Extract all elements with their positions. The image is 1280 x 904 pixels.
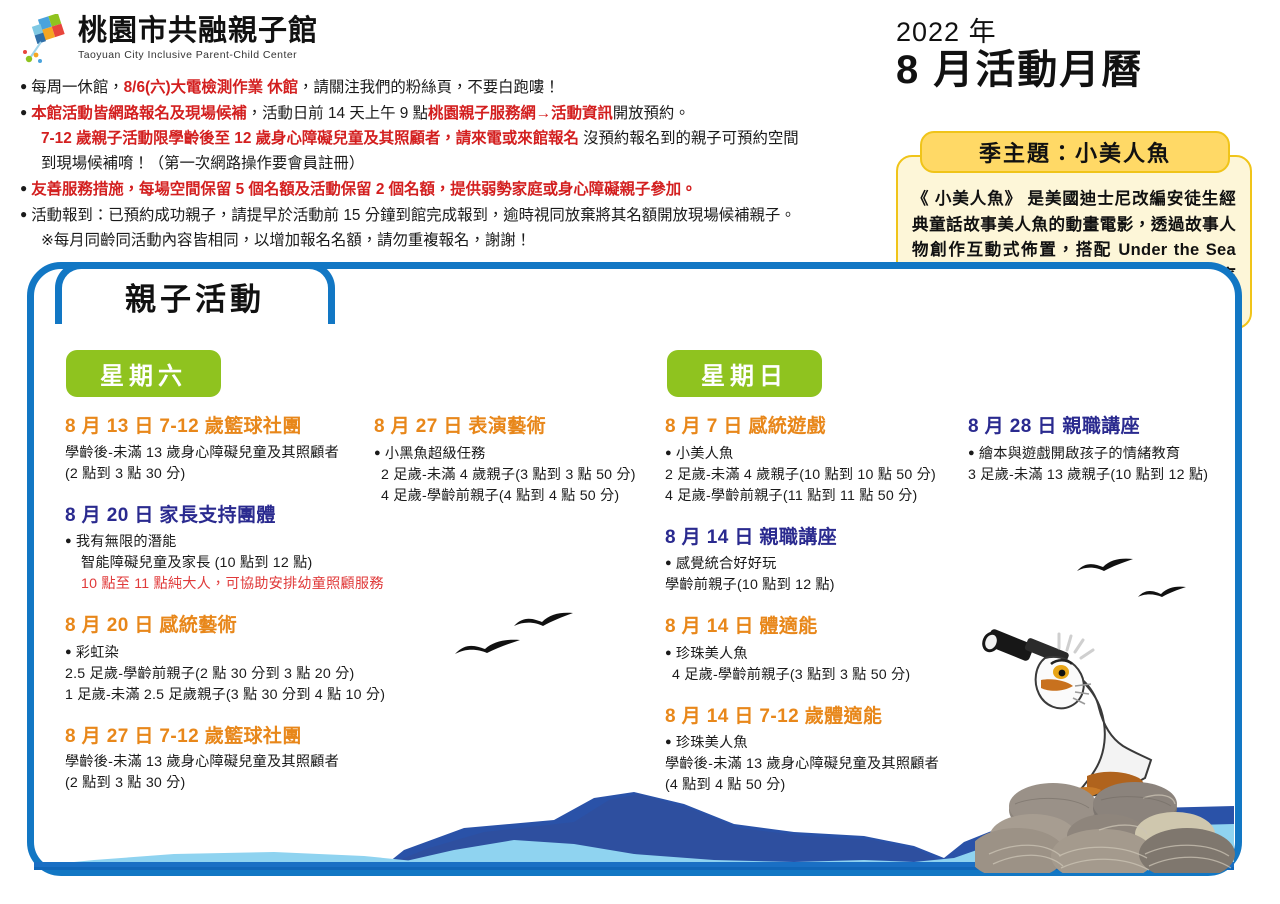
calendar-title: 8 月活動月曆 <box>896 46 1226 94</box>
notice-text: ，請關注我們的粉絲頁，不要白跑嘍！ <box>298 79 560 96</box>
activity-detail-text: 10 點至 11 點純大人，可協助安排幼童照顧服務 <box>81 576 384 592</box>
bullet-icon: ● <box>65 535 72 547</box>
kite-logo-icon <box>22 14 70 66</box>
calendar-heading: 2022 年 8 月活動月曆 <box>896 18 1226 94</box>
flying-bird-icon <box>512 610 576 635</box>
brand-name-zh: 桃園市共融親子館 <box>78 16 318 46</box>
bullet-icon: ● <box>374 447 381 459</box>
activity-detail-text: (4 點到 4 點 50 分) <box>665 777 785 793</box>
activity-detail-text: 彩虹染 <box>76 645 119 661</box>
activity-entry: 8 月 14 日 親職講座●感覺統合好好玩學齡前親子(10 點到 12 點) <box>665 524 965 597</box>
activity-detail-line: 2 足歲-未滿 4 歲親子(10 點到 10 點 50 分) <box>665 465 965 486</box>
activity-detail-line: ●繪本與遊戲開啟孩子的情緒教育 <box>968 443 1258 465</box>
activity-detail-line: 學齡後-未滿 13 歲身心障礙兒童及其照顧者 <box>65 443 365 464</box>
activity-title: 8 月 13 日 7-12 歲籃球社團 <box>65 413 365 441</box>
activity-detail-text: 學齡後-未滿 13 歲身心障礙兒童及其照顧者 <box>65 754 339 770</box>
bullet-icon: ● <box>665 736 672 748</box>
activity-detail-text: 學齡後-未滿 13 歲身心障礙兒童及其照顧者 <box>65 445 339 461</box>
activity-detail-text: 小美人魚 <box>676 446 734 462</box>
activity-title: 8 月 20 日 感統藝術 <box>65 612 365 640</box>
activity-detail-line: 10 點至 11 點純大人，可協助安排幼童照顧服務 <box>65 574 365 595</box>
bullet-icon: ● <box>20 181 27 195</box>
activity-title: 8 月 27 日 表演藝術 <box>374 413 664 441</box>
notice-text: 桃園親子服務網→活動資訊 <box>428 105 613 122</box>
activity-detail-line: 4 足歲-學齡前親子(3 點到 3 點 50 分) <box>665 665 965 686</box>
activity-column-saturday-2: 8 月 27 日 表演藝術●小黑魚超級任務2 足歲-未滿 4 歲親子(3 點到 … <box>374 413 664 524</box>
brand-name-en: Taoyuan City Inclusive Parent-Child Cent… <box>78 49 318 61</box>
activity-detail-text: 感覺統合好好玩 <box>676 556 777 572</box>
activity-title: 8 月 7 日 感統遊戲 <box>665 413 965 441</box>
activity-title: 8 月 14 日 親職講座 <box>665 524 965 552</box>
activity-detail-line: 2 足歲-未滿 4 歲親子(3 點到 3 點 50 分) <box>374 465 664 486</box>
activity-entry: 8 月 20 日 感統藝術●彩虹染2.5 足歲-學齡前親子(2 點 30 分到 … <box>65 612 365 706</box>
flying-bird-icon <box>452 636 524 663</box>
notice-text: 每周一休館， <box>31 79 123 96</box>
activity-detail-text: 4 足歲-學齡前親子(11 點到 11 點 50 分) <box>665 488 917 504</box>
activity-detail-line: (2 點到 3 點 30 分) <box>65 464 365 485</box>
day-badge-sunday: 星期日 <box>667 350 822 397</box>
activity-detail-line: 智能障礙兒童及家長 (10 點到 12 點) <box>65 553 365 574</box>
activity-detail-line: 4 足歲-學齡前親子(11 點到 11 點 50 分) <box>665 486 965 507</box>
activity-calendar-poster: 桃園市共融親子館 Taoyuan City Inclusive Parent-C… <box>0 0 1280 904</box>
notice-friendly-service: ●友善服務措施，每場空間保留 5 個名額及活動保留 2 個名額，提供弱勢家庭或身… <box>20 176 920 202</box>
activity-detail-line: 3 足歲-未滿 13 歲親子(10 點到 12 點) <box>968 465 1258 486</box>
activity-detail-line: (4 點到 4 點 50 分) <box>665 775 965 796</box>
activity-entry: 8 月 27 日 表演藝術●小黑魚超級任務2 足歲-未滿 4 歲親子(3 點到 … <box>374 413 664 507</box>
notice-text: 友善服務措施，每場空間保留 5 個名額及活動保留 2 個名額，提供弱勢家庭或身心… <box>31 181 696 198</box>
activity-detail-text: 珍珠美人魚 <box>676 735 748 751</box>
activity-detail-text: 4 足歲-學齡前親子(3 點到 3 點 50 分) <box>672 667 910 683</box>
bullet-icon: ● <box>665 447 672 459</box>
activity-column-sunday-1: 8 月 7 日 感統遊戲●小美人魚2 足歲-未滿 4 歲親子(10 點到 10 … <box>665 413 965 813</box>
notice-waitlist: 到現場候補唷！（第一次網路操作要會員註冊） <box>20 151 920 176</box>
activity-detail-text: 2 足歲-未滿 4 歲親子(10 點到 10 點 50 分) <box>665 467 936 483</box>
activity-title: 8 月 14 日 7-12 歲體適能 <box>665 703 965 731</box>
notice-text: ，活動日前 14 天上午 9 點 <box>247 105 428 122</box>
activity-column-sunday-2: 8 月 28 日 親職講座●繪本與遊戲開啟孩子的情緒教育3 足歲-未滿 13 歲… <box>968 413 1258 503</box>
activity-title: 8 月 14 日 體適能 <box>665 613 965 641</box>
notice-text: 7-12 歲親子活動限學齡後至 12 歲身心障礙兒童及其照顧者，請來電或來館報名 <box>41 130 579 147</box>
notice-text: 沒預約報名到的親子可預約空間 <box>579 130 799 147</box>
bullet-icon: ● <box>20 105 27 119</box>
activity-detail-text: 4 足歲-學齡前親子(4 點到 4 點 50 分) <box>381 488 619 504</box>
flying-bird-icon <box>1075 556 1135 580</box>
activity-entry: 8 月 14 日 7-12 歲體適能●珍珠美人魚學齡後-未滿 13 歲身心障礙兒… <box>665 703 965 797</box>
activity-detail-line: 1 足歲-未滿 2.5 足歲親子(3 點 30 分到 4 點 10 分) <box>65 685 365 706</box>
activity-entry: 8 月 14 日 體適能●珍珠美人魚4 足歲-學齡前親子(3 點到 3 點 50… <box>665 613 965 686</box>
notice-registration: ●本館活動皆網路報名及現場候補，活動日前 14 天上午 9 點桃園親子服務網→活… <box>20 100 920 126</box>
activity-detail-line: (2 點到 3 點 30 分) <box>65 773 365 794</box>
activity-entry: 8 月 13 日 7-12 歲籃球社團學齡後-未滿 13 歲身心障礙兒童及其照顧… <box>65 413 365 485</box>
notice-check-in: ●活動報到：已預約成功親子，請提早於活動前 15 分鐘到館完成報到，逾時視同放棄… <box>20 202 920 228</box>
activity-entry: 8 月 27 日 7-12 歲籃球社團學齡後-未滿 13 歲身心障礙兒童及其照顧… <box>65 723 365 795</box>
activity-detail-line: 學齡後-未滿 13 歲身心障礙兒童及其照顧者 <box>65 752 365 773</box>
bullet-icon: ● <box>968 447 975 459</box>
bullet-icon: ● <box>665 557 672 569</box>
notice-text: 到現場候補唷！（第一次網路操作要會員註冊） <box>41 155 364 172</box>
activity-detail-text: 我有無限的潛能 <box>76 534 177 550</box>
activity-title: 8 月 27 日 7-12 歲籃球社團 <box>65 723 365 751</box>
activity-title: 8 月 28 日 親職講座 <box>968 413 1258 441</box>
activity-detail-line: ●感覺統合好好玩 <box>665 553 965 575</box>
activity-column-saturday-1: 8 月 13 日 7-12 歲籃球社團學齡後-未滿 13 歲身心障礙兒童及其照顧… <box>65 413 365 811</box>
notice-text: 活動報到：已預約成功親子，請提早於活動前 15 分鐘到館完成報到，逾時視同放棄將… <box>31 207 795 224</box>
bullet-icon: ● <box>20 79 27 93</box>
notice-closure: ●每周一休館，8/6(六)大電檢測作業 休館，請關注我們的粉絲頁，不要白跑嘍！ <box>20 74 920 100</box>
activity-detail-line: ●小黑魚超級任務 <box>374 443 664 465</box>
activity-detail-text: 繪本與遊戲開啟孩子的情緒教育 <box>979 446 1180 462</box>
activity-detail-text: 智能障礙兒童及家長 (10 點到 12 點) <box>81 555 312 571</box>
day-badge-saturday: 星期六 <box>66 350 221 397</box>
activity-detail-line: ●小美人魚 <box>665 443 965 465</box>
bullet-icon: ● <box>20 207 27 221</box>
activity-detail-text: 1 足歲-未滿 2.5 足歲親子(3 點 30 分到 4 點 10 分) <box>65 687 385 703</box>
activity-detail-text: 學齡後-未滿 13 歲身心障礙兒童及其照顧者 <box>665 756 939 772</box>
activity-detail-line: ●珍珠美人魚 <box>665 732 965 754</box>
flying-bird-icon <box>1136 584 1188 606</box>
notice-text: ※每月同齡同活動內容皆相同，以增加報名名額，請勿重複報名，謝謝！ <box>41 232 531 249</box>
activity-detail-line: ●珍珠美人魚 <box>665 643 965 665</box>
activity-entry: 8 月 20 日 家長支持團體●我有無限的潛能智能障礙兒童及家長 (10 點到 … <box>65 502 365 596</box>
activity-entry: 8 月 28 日 親職講座●繪本與遊戲開啟孩子的情緒教育3 足歲-未滿 13 歲… <box>968 413 1258 486</box>
brand-logo: 桃園市共融親子館 Taoyuan City Inclusive Parent-C… <box>22 14 318 66</box>
activity-detail-text: (2 點到 3 點 30 分) <box>65 466 185 482</box>
activity-detail-text: 學齡前親子(10 點到 12 點) <box>665 577 835 593</box>
activity-detail-text: (2 點到 3 點 30 分) <box>65 775 185 791</box>
notice-age-limit: 7-12 歲親子活動限學齡後至 12 歲身心障礙兒童及其照顧者，請來電或來館報名… <box>20 126 920 151</box>
bullet-icon: ● <box>665 647 672 659</box>
activity-detail-text: 珍珠美人魚 <box>676 646 748 662</box>
section-tab-label: 親子活動 <box>55 274 335 319</box>
activity-detail-text: 2.5 足歲-學齡前親子(2 點 30 分到 3 點 20 分) <box>65 666 354 682</box>
season-theme-badge: 季主題：小美人魚 <box>920 131 1230 173</box>
bullet-icon: ● <box>65 646 72 658</box>
calendar-year: 2022 年 <box>896 18 1226 48</box>
activity-entry: 8 月 7 日 感統遊戲●小美人魚2 足歲-未滿 4 歲親子(10 點到 10 … <box>665 413 965 507</box>
seagull-with-telescope-icon <box>975 628 1250 873</box>
notice-list: ●每周一休館，8/6(六)大電檢測作業 休館，請關注我們的粉絲頁，不要白跑嘍！●… <box>20 74 920 253</box>
notice-text: 8/6(六)大電檢測作業 休館 <box>124 79 298 96</box>
activity-detail-line: ●我有無限的潛能 <box>65 531 365 553</box>
activity-detail-line: 4 足歲-學齡前親子(4 點到 4 點 50 分) <box>374 486 664 507</box>
activity-detail-text: 3 足歲-未滿 13 歲親子(10 點到 12 點) <box>968 467 1208 483</box>
notice-text: 本館活動皆網路報名及現場候補 <box>31 105 246 122</box>
activity-detail-line: 2.5 足歲-學齡前親子(2 點 30 分到 3 點 20 分) <box>65 664 365 685</box>
activity-title: 8 月 20 日 家長支持團體 <box>65 502 365 530</box>
activity-detail-line: ●彩虹染 <box>65 642 365 664</box>
activity-detail-line: 學齡後-未滿 13 歲身心障礙兒童及其照顧者 <box>665 754 965 775</box>
activity-detail-line: 學齡前親子(10 點到 12 點) <box>665 575 965 596</box>
notice-duplicate: ※每月同齡同活動內容皆相同，以增加報名名額，請勿重複報名，謝謝！ <box>20 228 920 253</box>
activity-detail-text: 小黑魚超級任務 <box>385 446 486 462</box>
activity-detail-text: 2 足歲-未滿 4 歲親子(3 點到 3 點 50 分) <box>381 467 636 483</box>
notice-text: 開放預約。 <box>613 105 690 122</box>
